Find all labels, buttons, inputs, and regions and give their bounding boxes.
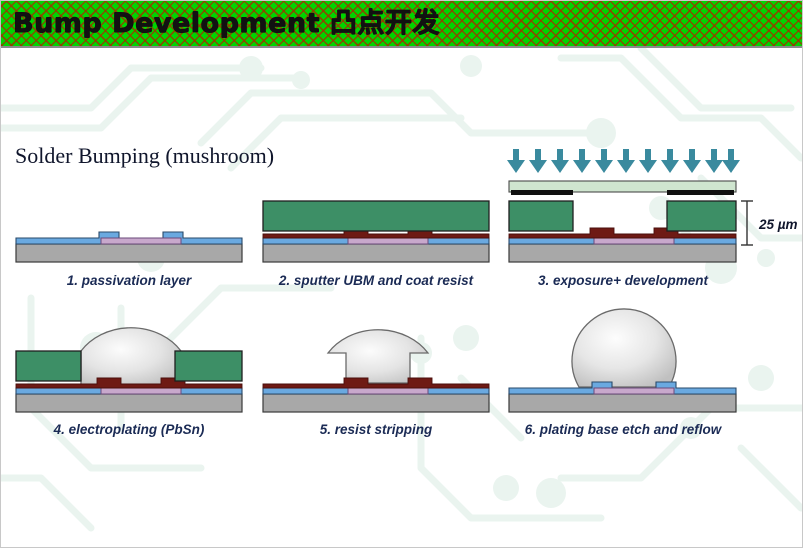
solder-bump-sphere bbox=[572, 309, 676, 387]
thickness-label: 25 µm bbox=[759, 217, 798, 232]
circuit-board-background bbox=[1, 48, 803, 548]
solder-bump-mushroom bbox=[81, 328, 181, 385]
step-6-figure bbox=[507, 303, 739, 420]
exposure-arrow-group bbox=[507, 149, 740, 173]
thickness-dimension-bar bbox=[741, 201, 753, 245]
step-1-figure bbox=[15, 229, 243, 270]
step-4-caption: 4. electroplating (PbSn) bbox=[15, 422, 243, 437]
step-2-figure bbox=[262, 199, 490, 270]
step-5-figure bbox=[262, 303, 490, 420]
slide-title-bar: Bump Development 凸点开发 bbox=[1, 1, 803, 48]
page-title: Bump Development 凸点开发 bbox=[1, 10, 440, 37]
slide-page: Bump Development 凸点开发 Solder Bumping (mu… bbox=[0, 0, 803, 548]
step-6-caption: 6. plating base etch and reflow bbox=[507, 422, 739, 437]
step-3-figure bbox=[507, 149, 739, 270]
step-5-caption: 5. resist stripping bbox=[262, 422, 490, 437]
solder-bump-mushroom bbox=[328, 330, 428, 383]
step-2-caption: 2. sputter UBM and coat resist bbox=[262, 273, 490, 288]
step-4-figure bbox=[15, 303, 243, 420]
step-1-caption: 1. passivation layer bbox=[15, 273, 243, 288]
step-3-caption: 3. exposure+ development bbox=[507, 273, 739, 288]
section-heading: Solder Bumping (mushroom) bbox=[15, 143, 274, 169]
